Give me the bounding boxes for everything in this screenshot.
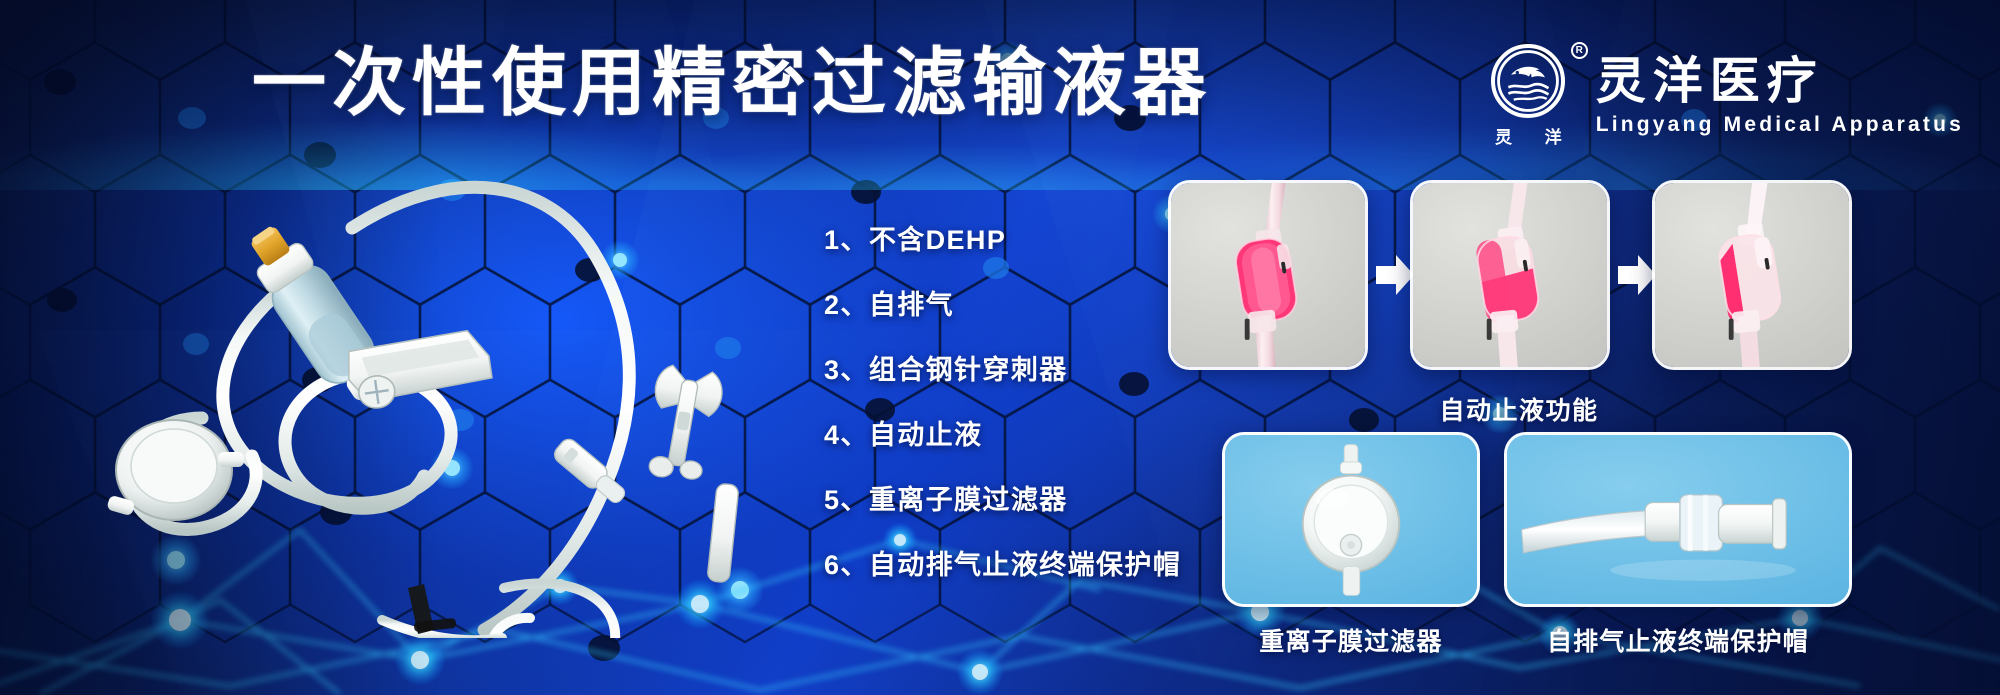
registered-mark-icon: R	[1571, 42, 1588, 59]
brand-text: 灵洋医疗 Lingyang Medical Apparatus	[1596, 55, 1964, 137]
emblem-subtitle: 灵 洋	[1481, 123, 1576, 148]
hero-needle	[640, 363, 739, 583]
product-caption-cap: 自排气止液终端保护帽	[1504, 622, 1852, 658]
feature-item: 1、不含DEHP	[824, 218, 1181, 257]
hero-clip	[408, 584, 456, 634]
ion-membrane-filter-photo	[1225, 435, 1477, 604]
logo-emblem: R 灵 洋	[1481, 44, 1576, 148]
product-caption-filter: 重离子膜过滤器	[1222, 622, 1480, 658]
feature-item: 6、自动排气止液终端保护帽	[824, 543, 1181, 582]
sequence-card-2	[1410, 180, 1610, 370]
product-hero-image	[52, 168, 772, 638]
feature-item: 3、组合钢针穿刺器	[824, 348, 1181, 387]
brand-logo: R 灵 洋 灵洋医疗 Lingyang Medical Apparatus	[1481, 44, 1964, 148]
brand-name-cn: 灵洋医疗	[1596, 55, 1964, 108]
feature-item: 4、自动止液	[824, 413, 1181, 452]
wave-bird-icon	[1491, 44, 1565, 118]
auto-stop-device-step2	[1413, 183, 1607, 367]
auto-stop-device-step3	[1655, 183, 1849, 367]
hero-filter	[106, 420, 244, 520]
product-card-filter	[1222, 432, 1480, 607]
auto-stop-device-step1	[1171, 183, 1365, 367]
page-title: 一次性使用精密过滤输液器	[252, 46, 1212, 120]
sequence-card-3	[1652, 180, 1852, 370]
sequence-caption: 自动止液功能	[1185, 391, 1853, 427]
air-vent-stop-cap-photo	[1507, 435, 1849, 604]
feature-list: 1、不含DEHP 2、自排气 3、组合钢针穿刺器 4、自动止液 5、重离子膜过滤…	[824, 218, 1181, 582]
feature-item: 5、重离子膜过滤器	[824, 478, 1181, 517]
brand-name-en: Lingyang Medical Apparatus	[1596, 113, 1964, 137]
product-card-protective-cap	[1504, 432, 1852, 607]
feature-item: 2、自排气	[824, 283, 1181, 322]
sequence-card-1	[1168, 180, 1368, 370]
product-banner: 一次性使用精密过滤输液器 R 灵 洋 灵洋医疗 Lingyang M	[0, 0, 2000, 695]
